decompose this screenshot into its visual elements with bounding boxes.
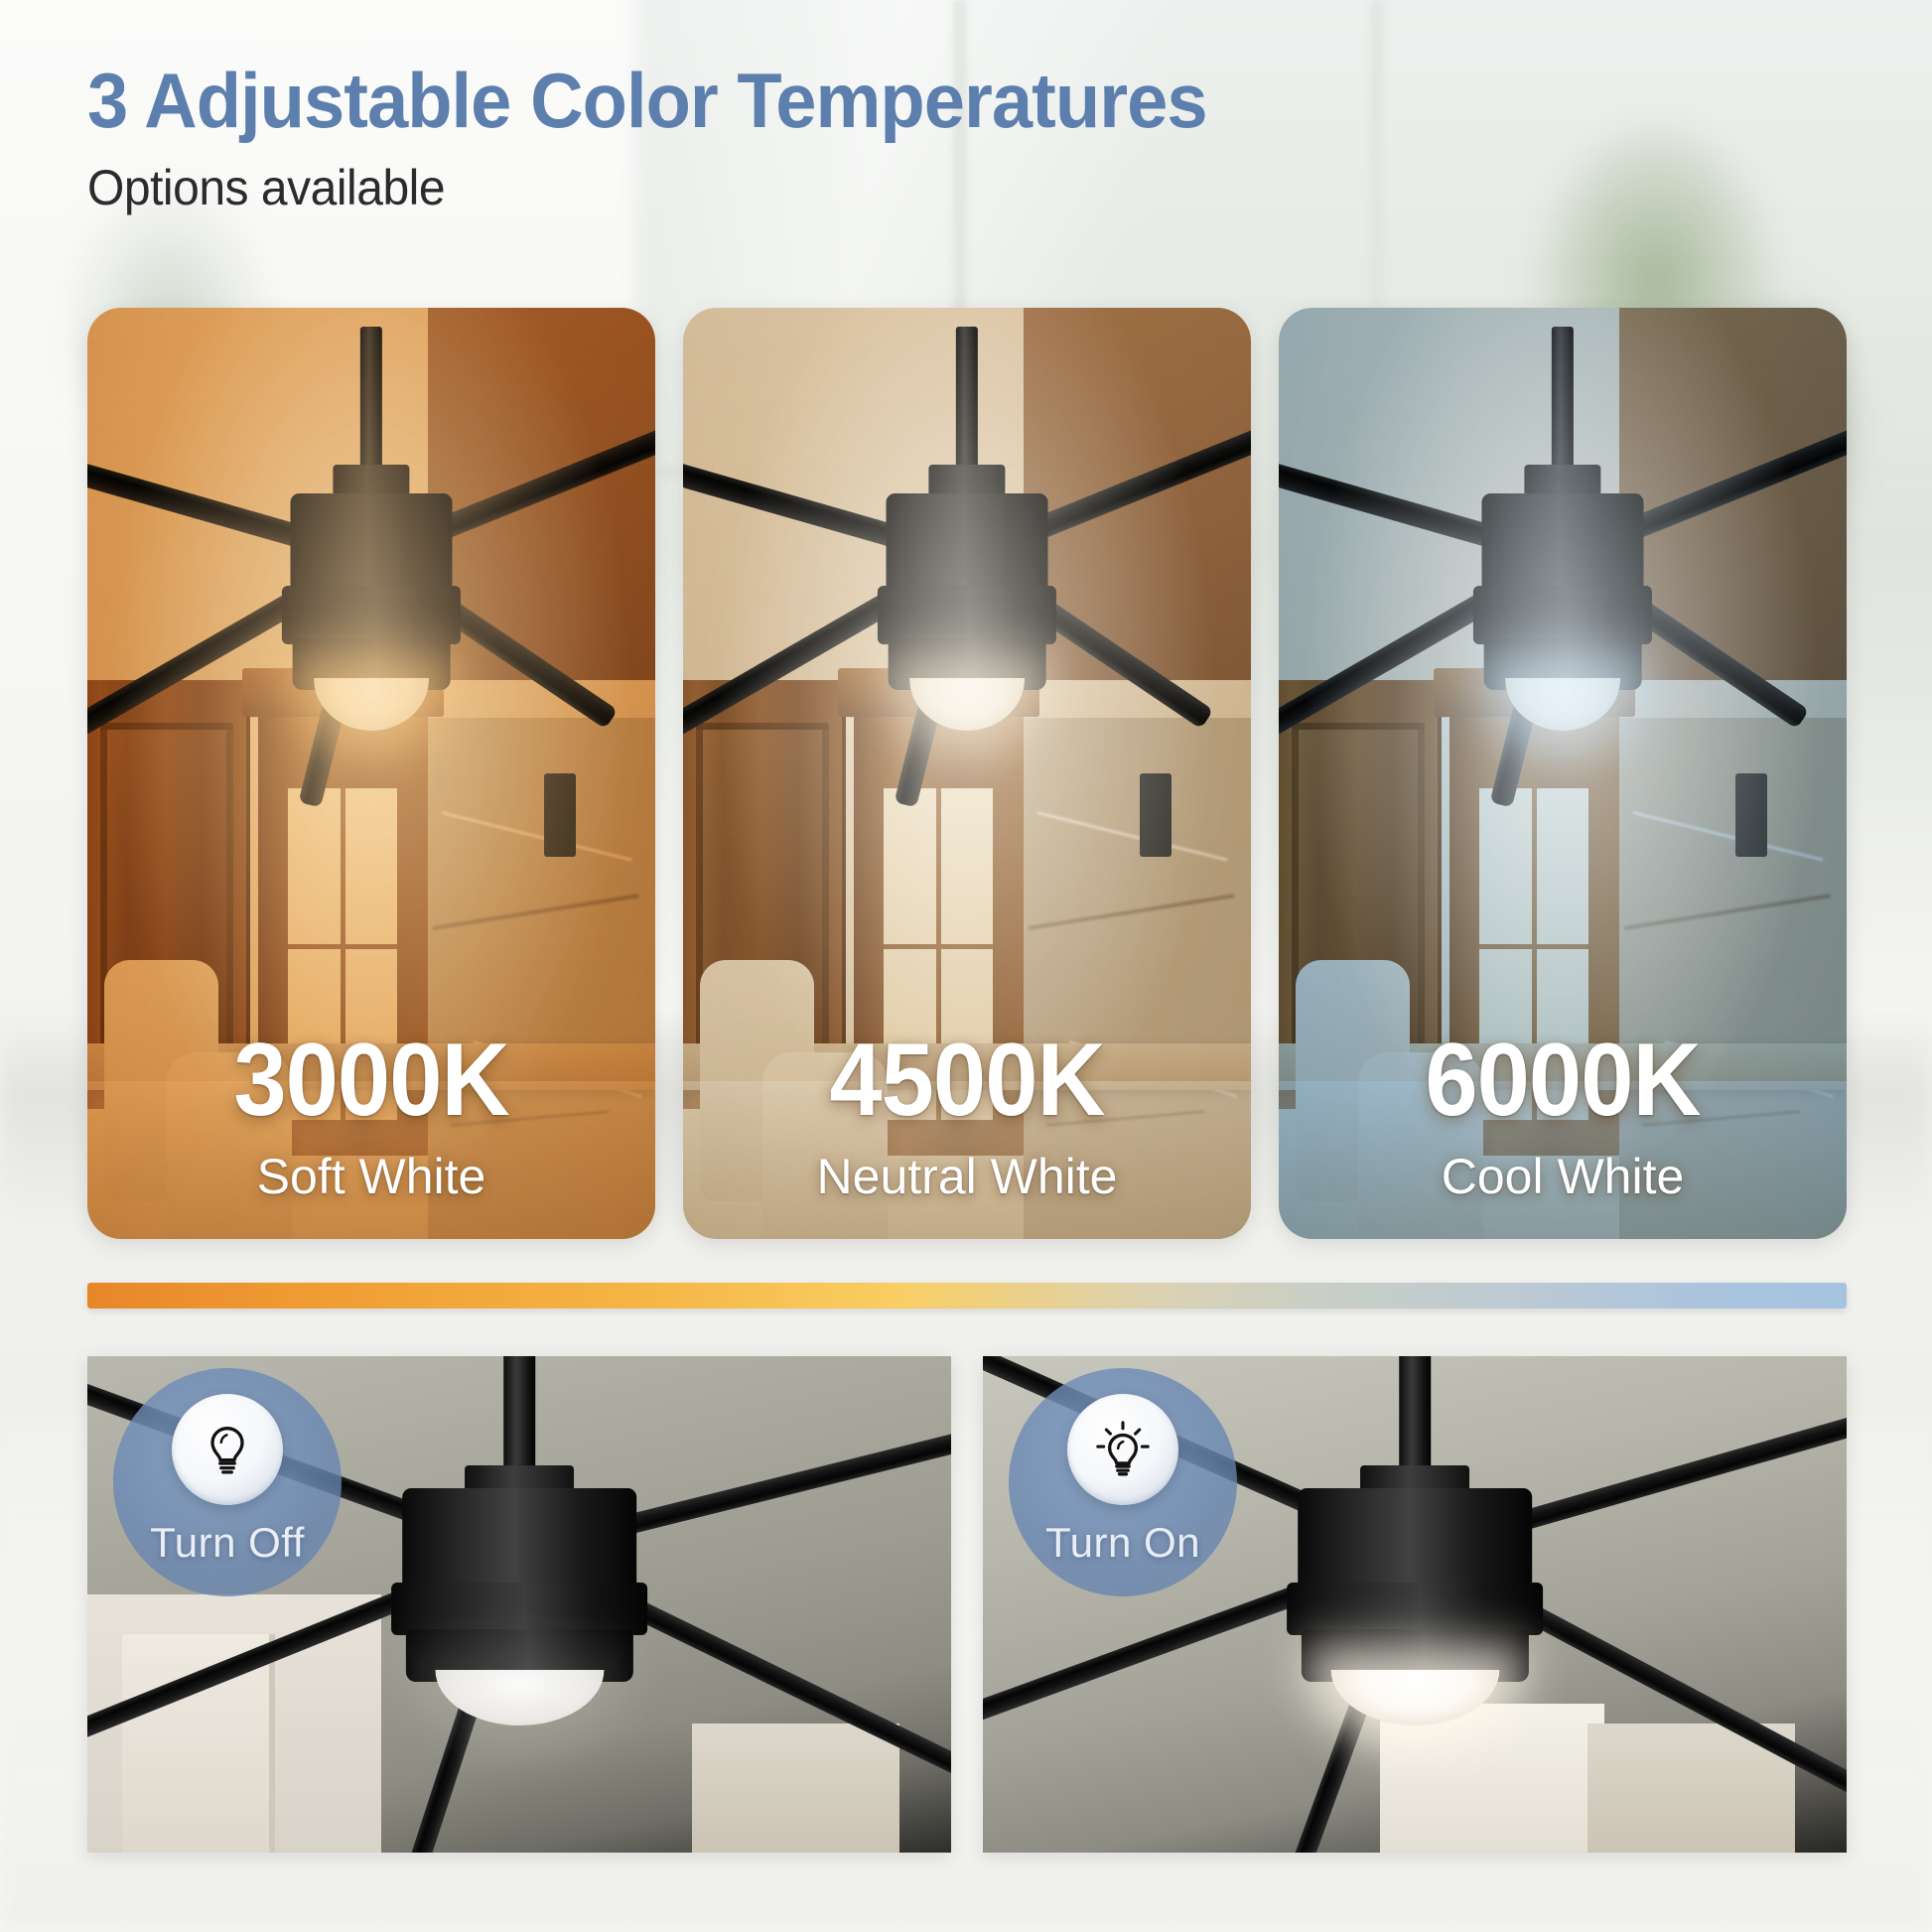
panel-turn-off[interactable]: Turn Off — [87, 1356, 951, 1853]
kelvin-value: 6000K — [1302, 1029, 1824, 1132]
fan-motor-housing — [1287, 1583, 1544, 1635]
kelvin-name: Neutral White — [683, 1148, 1251, 1205]
fan-downrod — [1552, 327, 1574, 477]
fan-canopy — [1360, 1465, 1470, 1492]
temperature-card-6000k[interactable]: 6000K Cool White — [1279, 308, 1847, 1239]
fan-motor-housing — [290, 493, 452, 592]
kelvin-name: Soft White — [87, 1148, 655, 1205]
fan-motor-housing — [1473, 586, 1652, 643]
card-caption: 4500K Neutral White — [683, 1029, 1251, 1205]
turn-off-badge[interactable]: Turn Off — [113, 1368, 342, 1596]
page-subtitle: Options available — [87, 159, 1218, 216]
fan-downrod — [503, 1356, 536, 1477]
ceiling-fan — [1279, 327, 1847, 904]
color-temperature-cards: 3000K Soft White — [87, 308, 1847, 1239]
fan-motor-housing — [282, 586, 461, 643]
fan-canopy — [1524, 465, 1600, 496]
fan-motor-housing — [1481, 493, 1643, 592]
card-caption: 6000K Cool White — [1279, 1029, 1847, 1205]
temperature-card-4500k[interactable]: 4500K Neutral White — [683, 308, 1251, 1239]
fan-downrod — [360, 327, 382, 477]
fan-downrod — [1399, 1356, 1432, 1477]
light-state-panels: Turn Off — [87, 1356, 1847, 1853]
kelvin-value: 4500K — [706, 1029, 1228, 1132]
fan-motor-housing — [402, 1488, 637, 1587]
gradient-divider — [87, 1283, 1847, 1309]
turn-on-label: Turn On — [1009, 1519, 1237, 1567]
lightbulb-on-icon[interactable] — [1067, 1394, 1178, 1505]
turn-on-badge[interactable]: Turn On — [1009, 1368, 1237, 1596]
kelvin-value: 3000K — [110, 1029, 632, 1132]
fan-canopy — [928, 465, 1005, 496]
fan-downrod — [956, 327, 978, 477]
ceiling-fan — [683, 327, 1251, 904]
fan-motor-housing — [878, 586, 1056, 643]
fan-motor-housing — [391, 1583, 648, 1635]
fan-canopy — [465, 1465, 575, 1492]
temperature-card-3000k[interactable]: 3000K Soft White — [87, 308, 655, 1239]
fan-motor-housing — [886, 493, 1047, 592]
lightbulb-off-icon[interactable] — [172, 1394, 283, 1505]
kelvin-name: Cool White — [1279, 1148, 1847, 1205]
fan-motor-housing — [1298, 1488, 1533, 1587]
fan-canopy — [333, 465, 409, 496]
header: 3 Adjustable Color Temperatures Options … — [87, 62, 1266, 216]
ceiling-fan — [87, 327, 655, 904]
panel-turn-on[interactable]: Turn On — [983, 1356, 1847, 1853]
page-title: 3 Adjustable Color Temperatures — [87, 62, 1207, 141]
card-caption: 3000K Soft White — [87, 1029, 655, 1205]
turn-off-label: Turn Off — [113, 1519, 342, 1567]
